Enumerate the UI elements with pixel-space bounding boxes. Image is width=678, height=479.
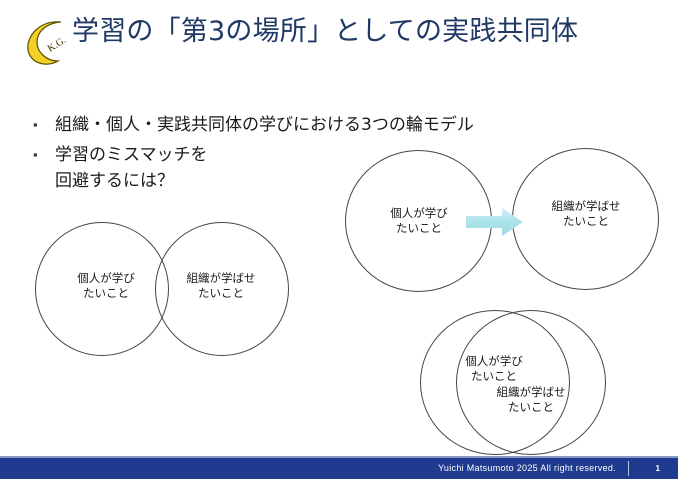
- venn-high-right-label: 組織が学ばせ たいこと: [481, 385, 581, 415]
- page-title: 学習の「第3の場所」としての実践共同体: [72, 14, 668, 50]
- page-number: 1: [656, 458, 660, 479]
- bullet-marker-icon: ▪: [30, 142, 55, 168]
- crescent-moon-logo-icon: K.G.: [20, 16, 72, 68]
- venn-partial-left-label: 個人が学び たいこと: [60, 271, 152, 301]
- copyright-text: Yuichi Matsumoto 2025 All right reserved…: [438, 458, 616, 479]
- footer-separator: [628, 461, 629, 476]
- logo-initials: K.G.: [46, 35, 68, 55]
- venn-separated-right-label: 組織が学ばせ たいこと: [536, 199, 636, 229]
- bullet-text: 学習のミスマッチを 回避するには？: [55, 142, 208, 194]
- bullet-marker-icon: ▪: [30, 112, 55, 138]
- list-item: ▪ 組織・個人・実践共同体の学びにおける3つの輪モデル: [30, 112, 650, 138]
- venn-separated-left-label: 個人が学び たいこと: [372, 206, 466, 236]
- slide-canvas: K.G. 学習の「第3の場所」としての実践共同体 ▪ 組織・個人・実践共同体の学…: [0, 0, 678, 479]
- right-arrow-icon: [466, 207, 524, 237]
- venn-partial-right-label: 組織が学ばせ たいこと: [172, 271, 270, 301]
- bullet-text: 組織・個人・実践共同体の学びにおける3つの輪モデル: [55, 112, 474, 138]
- footer-bar: Yuichi Matsumoto 2025 All right reserved…: [0, 458, 678, 479]
- venn-high-left-label: 個人が学び たいこと: [447, 354, 541, 384]
